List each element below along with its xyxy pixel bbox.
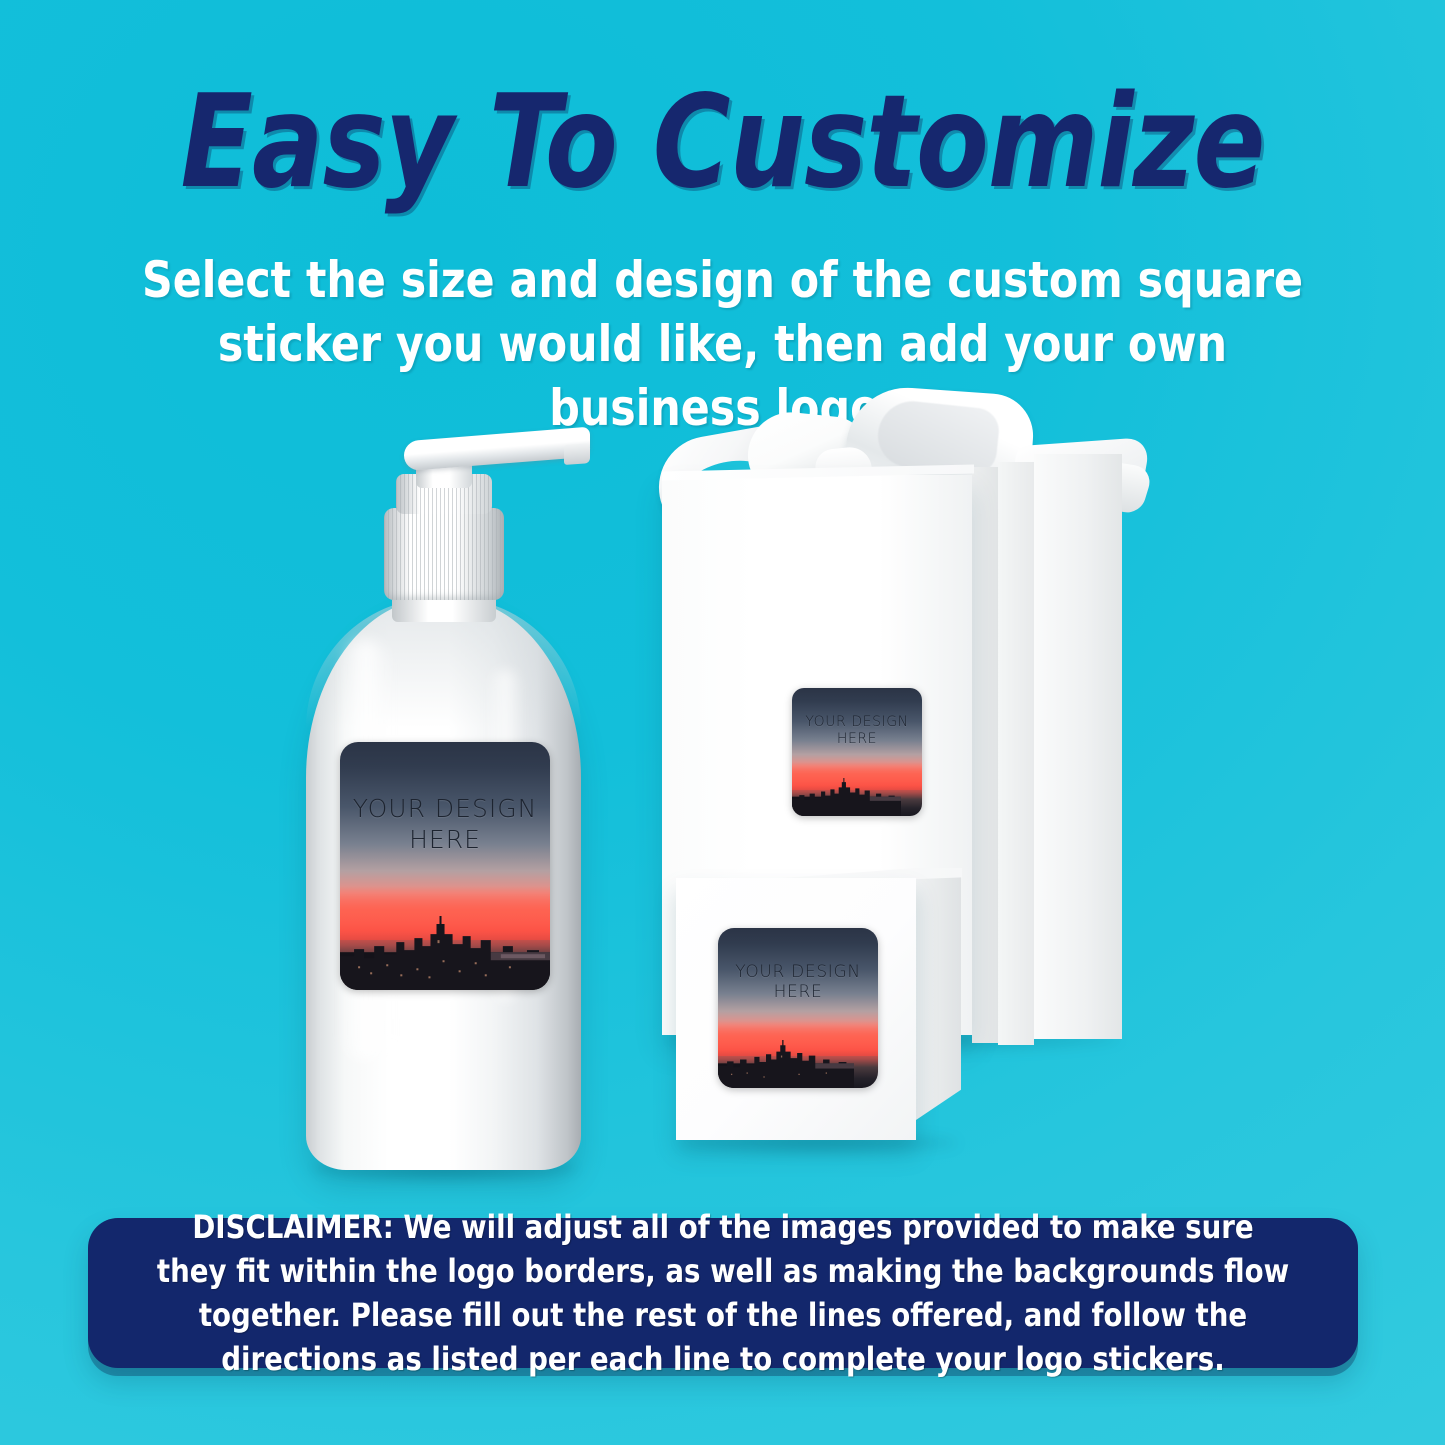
giftbox-back-panel xyxy=(1034,454,1122,1039)
city-skyline-icon xyxy=(792,778,901,816)
giftbox-mid-panel xyxy=(998,462,1034,1045)
product-pump-bottle: YOUR DESIGN HERE xyxy=(292,430,602,1170)
giftbox-sticker-text: YOUR DESIGN HERE xyxy=(792,714,922,748)
bottle-sticker-label: YOUR DESIGN HERE xyxy=(340,742,550,990)
city-skyline-icon xyxy=(718,1040,854,1088)
pump-nozzle-tip xyxy=(564,443,590,465)
cube-side-panel xyxy=(916,868,961,1120)
promo-banner: Easy To Customize Select the size and de… xyxy=(0,0,1445,1445)
cube-sticker-text: YOUR DESIGN HERE xyxy=(718,962,878,1003)
pump-nozzle-lever xyxy=(404,427,590,472)
cube-sticker-label: YOUR DESIGN HERE xyxy=(718,928,878,1088)
city-skyline-icon xyxy=(340,916,550,990)
bottle-sticker-text: YOUR DESIGN HERE xyxy=(340,794,550,855)
giftbox-side-panel xyxy=(972,467,998,1043)
giftbox-sticker-label: YOUR DESIGN HERE xyxy=(792,688,922,816)
product-cube-box: YOUR DESIGN HERE xyxy=(668,860,968,1150)
pump-collar xyxy=(384,508,504,600)
page-headline: Easy To Customize xyxy=(58,78,1387,209)
disclaimer-text: DISCLAIMER: We will adjust all of the im… xyxy=(157,1205,1290,1382)
disclaimer-banner: DISCLAIMER: We will adjust all of the im… xyxy=(88,1218,1358,1368)
